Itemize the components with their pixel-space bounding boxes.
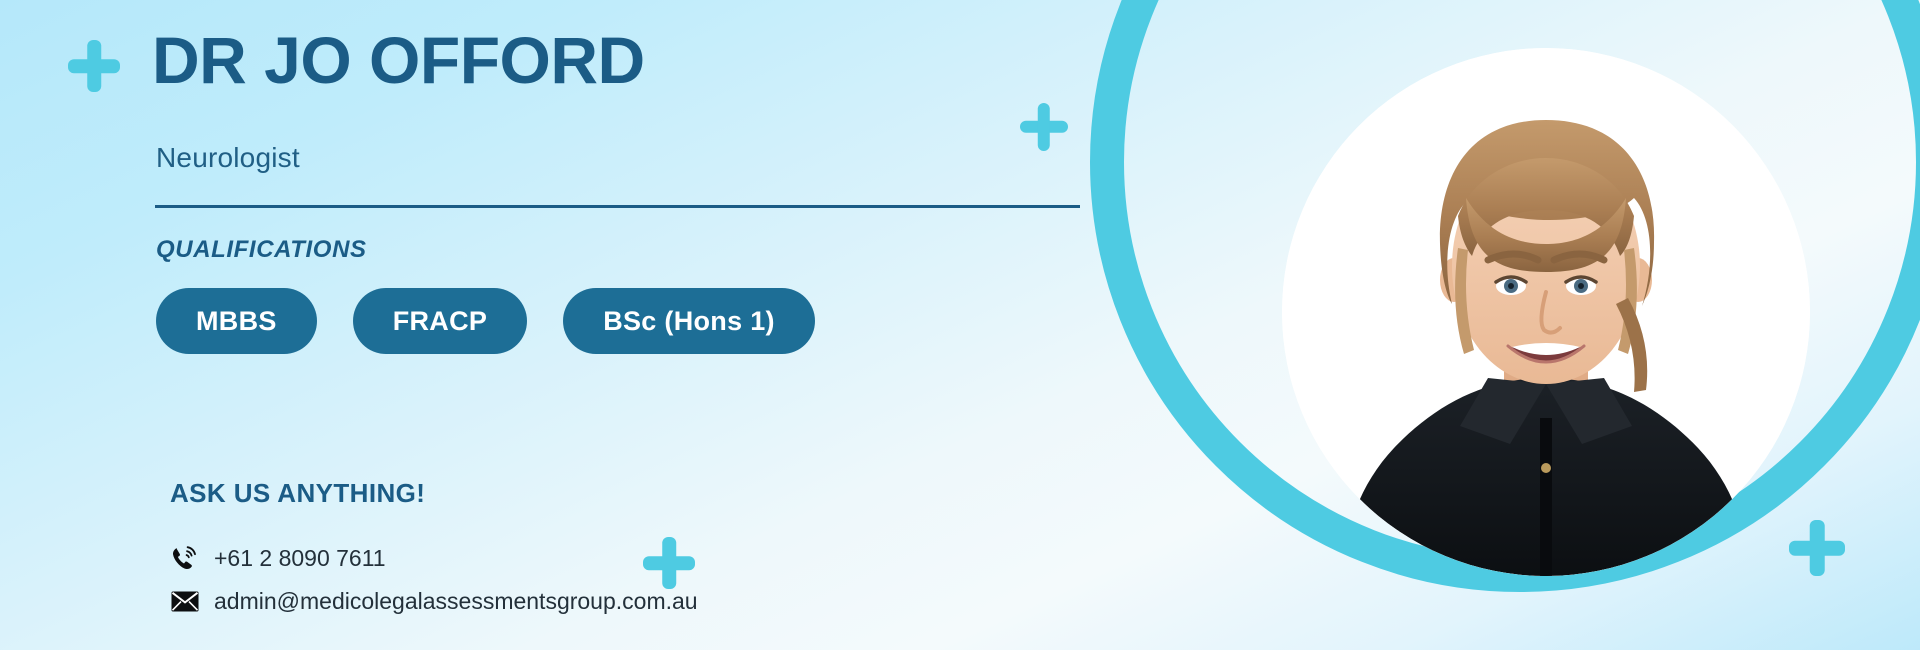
divider <box>155 205 1080 208</box>
phone-ringing-icon <box>170 546 200 572</box>
profile-content: DR JO OFFORD Neurologist QUALIFICATIONS … <box>0 0 1100 650</box>
email-address: admin@medicolegalassessmentsgroup.com.au <box>214 588 698 615</box>
plus-icon <box>1789 520 1845 576</box>
page-title: DR JO OFFORD <box>152 26 645 95</box>
cta-heading: ASK US ANYTHING! <box>170 478 425 509</box>
specialty-label: Neurologist <box>156 142 300 174</box>
phone-number: +61 2 8090 7611 <box>214 545 386 572</box>
qualification-pill[interactable]: MBBS <box>156 288 317 354</box>
qualifications-list: MBBS FRACP BSc (Hons 1) <box>156 288 815 354</box>
contact-phone-row[interactable]: +61 2 8090 7611 <box>170 545 386 572</box>
doctor-profile-banner: DR JO OFFORD Neurologist QUALIFICATIONS … <box>0 0 1920 650</box>
qualification-pill[interactable]: BSc (Hons 1) <box>563 288 815 354</box>
envelope-icon <box>170 589 200 615</box>
avatar <box>1282 48 1810 576</box>
portrait-image <box>1282 48 1810 576</box>
name-row: DR JO OFFORD <box>152 26 645 95</box>
contact-email-row[interactable]: admin@medicolegalassessmentsgroup.com.au <box>170 588 698 615</box>
qualifications-heading: QUALIFICATIONS <box>156 236 367 264</box>
qualification-pill[interactable]: FRACP <box>353 288 528 354</box>
